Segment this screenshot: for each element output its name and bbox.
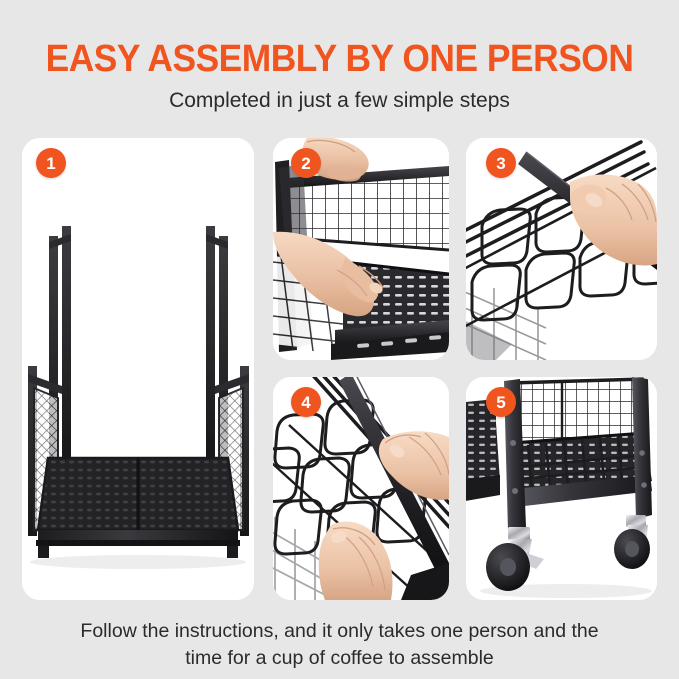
panel-step-1 (22, 138, 254, 600)
step-badge-2: 2 (291, 148, 321, 178)
page-title: EASY ASSEMBLY BY ONE PERSON (24, 40, 655, 78)
footer-caption: Follow the instructions, and it only tak… (40, 618, 639, 672)
page-subtitle: Completed in just a few simple steps (0, 88, 679, 113)
footer-line-2: time for a cup of coffee to assemble (40, 645, 639, 672)
infographic-page: EASY ASSEMBLY BY ONE PERSON Completed in… (0, 0, 679, 679)
frame-assembly-illustration (22, 138, 254, 600)
step-badge-3: 3 (486, 148, 516, 178)
footer-line-1: Follow the instructions, and it only tak… (40, 618, 639, 645)
step-badge-4: 4 (291, 387, 321, 417)
step-badge-1: 1 (36, 148, 66, 178)
step-badge-5: 5 (486, 387, 516, 417)
